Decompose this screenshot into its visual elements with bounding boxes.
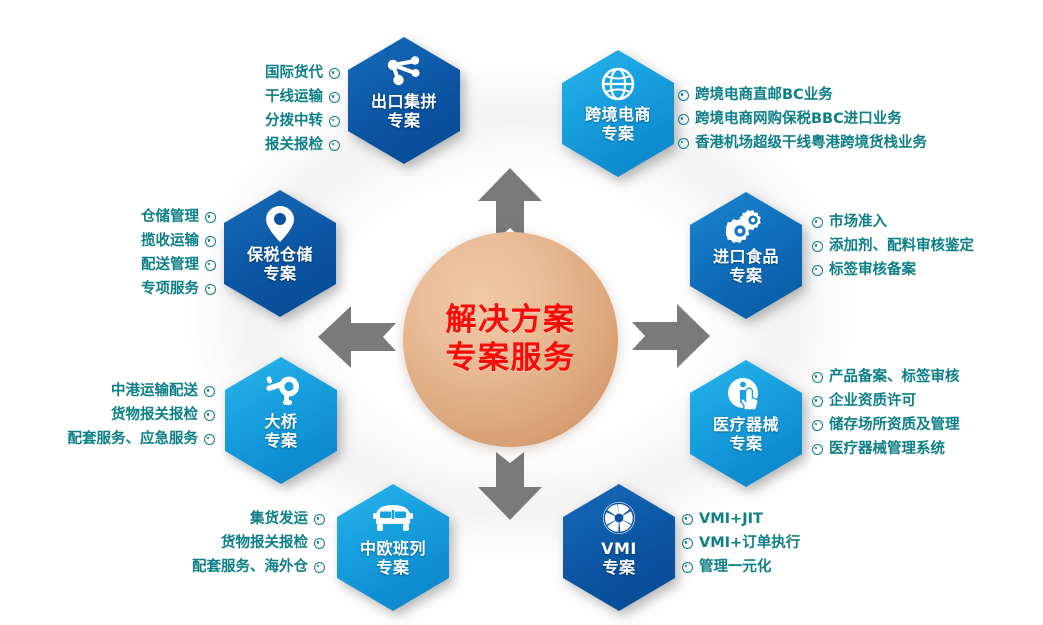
bullets-cross-border-ecommerce: 跨境电商直邮BC业务 跨境电商网购保税BBC进口业务 香港机场超级干线粤港跨境货… <box>678 84 1008 156</box>
bullet-label: 分拨中转 <box>265 110 323 134</box>
bullet-dot-icon <box>682 514 693 525</box>
bullet-label: 仓储管理 <box>141 206 199 230</box>
bullets-medical-devices: 产品备案、标签审核 企业资质许可 储存场所资质及管理 医疗器械管理系统 <box>812 366 1037 462</box>
node-cross-border-ecommerce[interactable]: 跨境电商 专案 <box>562 50 674 177</box>
bullet-label: 市场准入 <box>829 211 887 235</box>
bullet-dot-icon <box>205 260 216 271</box>
aperture-icon <box>600 498 638 538</box>
node-imported-food[interactable]: 进口食品 专案 <box>690 192 802 319</box>
node-china-europe-railway[interactable]: 中欧班列 专案 <box>337 484 449 611</box>
info-hand-icon <box>726 374 766 414</box>
diagram-canvas: 解决方案 专案服务 出口集拼 专案 国际货代 <box>0 0 1043 625</box>
node-title-line1: VMI <box>601 539 637 558</box>
bullet-label: 添加剂、配料审核鉴定 <box>829 235 974 259</box>
bullet-label: 集货发运 <box>250 508 308 532</box>
bullet-dot-icon <box>205 236 216 247</box>
node-title-line1: 保税仓储 <box>247 245 313 264</box>
network-nodes-icon <box>384 51 424 91</box>
node-title-line2: 专案 <box>729 434 762 453</box>
bullet-label: 产品备案、标签审核 <box>829 366 960 390</box>
train-icon <box>372 498 414 538</box>
bullet-label: 揽收运输 <box>141 230 199 254</box>
node-title-line1: 大桥 <box>264 412 297 431</box>
bullet-label: 配套服务、应急服务 <box>68 428 199 452</box>
bullet-dot-icon <box>812 420 823 431</box>
center-title-line1: 解决方案 <box>446 302 576 340</box>
bullet-label: 管理一元化 <box>699 556 772 580</box>
key-icon <box>261 371 301 411</box>
node-title-line2: 专案 <box>602 558 635 577</box>
arrow-up <box>478 168 542 240</box>
node-bridge[interactable]: 大桥 专案 <box>225 357 337 484</box>
bullet-dot-icon <box>678 138 689 149</box>
bullet-label: 跨境电商网购保税BBC进口业务 <box>695 108 902 132</box>
bullet-dot-icon <box>205 284 216 295</box>
bullet-label: 中港运输配送 <box>111 380 198 404</box>
node-medical-devices[interactable]: 医疗器械 专案 <box>690 360 802 487</box>
bullet-dot-icon <box>314 538 325 549</box>
bullet-label: 货物报关报检 <box>221 532 308 556</box>
bullet-dot-icon <box>678 114 689 125</box>
bullet-dot-icon <box>329 92 340 103</box>
bullets-export-consolidation: 国际货代 干线运输 分拨中转 报关报检 <box>150 62 340 158</box>
bullet-label: 专项服务 <box>141 278 199 302</box>
bullets-bridge: 中港运输配送 货物报关报检 配套服务、应急服务 <box>10 380 215 452</box>
bullet-dot-icon <box>812 372 823 383</box>
bullets-bonded-warehousing: 仓储管理 揽收运输 配送管理 专项服务 <box>30 206 216 302</box>
bullet-dot-icon <box>682 538 693 549</box>
bullets-vmi: VMI+JIT VMI+订单执行 管理一元化 <box>682 508 902 580</box>
node-bonded-warehousing[interactable]: 保税仓储 专案 <box>224 190 336 317</box>
node-title-line2: 专案 <box>601 124 634 143</box>
bullet-dot-icon <box>329 116 340 127</box>
bullet-dot-icon <box>812 217 823 228</box>
bullet-dot-icon <box>314 562 325 573</box>
bullet-label: 配送管理 <box>141 254 199 278</box>
bullet-dot-icon <box>812 396 823 407</box>
bullet-label: 跨境电商直邮BC业务 <box>695 84 833 108</box>
node-title-line1: 中欧班列 <box>360 539 426 558</box>
location-pin-icon <box>265 204 295 244</box>
bullet-label: 国际货代 <box>265 62 323 86</box>
bullet-dot-icon <box>205 212 216 223</box>
bullets-china-europe-railway: 集货发运 货物报关报检 配套服务、海外仓 <box>130 508 325 580</box>
node-title-line2: 专案 <box>264 431 297 450</box>
bullet-label: 储存场所资质及管理 <box>829 414 960 438</box>
bullet-dot-icon <box>812 241 823 252</box>
node-title-line2: 专案 <box>729 266 762 285</box>
bullet-label: 企业资质许可 <box>829 390 916 414</box>
bullet-dot-icon <box>329 68 340 79</box>
node-title-line2: 专案 <box>387 111 420 130</box>
bullet-dot-icon <box>204 410 215 421</box>
bullets-imported-food: 市场准入 添加剂、配料审核鉴定 标签审核备案 <box>812 211 1037 283</box>
node-title-line1: 进口食品 <box>713 247 779 266</box>
bullet-label: 配套服务、海外仓 <box>192 556 308 580</box>
bullet-label: 报关报检 <box>265 134 323 158</box>
node-title-line2: 专案 <box>376 558 409 577</box>
arrow-down <box>478 452 542 520</box>
bullet-label: 货物报关报检 <box>111 404 198 428</box>
node-title-line1: 医疗器械 <box>713 415 779 434</box>
bullet-label: 香港机场超级干线粤港跨境货栈业务 <box>695 132 927 156</box>
center-title-line2: 专案服务 <box>446 340 576 378</box>
node-export-consolidation[interactable]: 出口集拼 专案 <box>348 37 460 164</box>
bullet-dot-icon <box>812 444 823 455</box>
bullet-label: 标签审核备案 <box>829 259 916 283</box>
node-vmi[interactable]: VMI 专案 <box>563 484 675 611</box>
bullet-dot-icon <box>678 90 689 101</box>
bullet-dot-icon <box>812 265 823 276</box>
bullet-dot-icon <box>682 562 693 573</box>
bullet-label: 干线运输 <box>265 86 323 110</box>
globe-icon <box>600 64 636 104</box>
bullet-label: VMI+JIT <box>699 508 763 532</box>
bullet-dot-icon <box>204 386 215 397</box>
bullet-label: VMI+订单执行 <box>699 532 800 556</box>
node-title-line2: 专案 <box>263 264 296 283</box>
node-title-line1: 跨境电商 <box>585 105 651 124</box>
bullet-dot-icon <box>204 434 215 445</box>
center-hub: 解决方案 专案服务 <box>403 232 618 447</box>
bullet-label: 医疗器械管理系统 <box>829 438 945 462</box>
node-title-line1: 出口集拼 <box>371 92 437 111</box>
gears-icon <box>726 206 766 246</box>
bullet-dot-icon <box>329 140 340 151</box>
bullet-dot-icon <box>314 514 325 525</box>
